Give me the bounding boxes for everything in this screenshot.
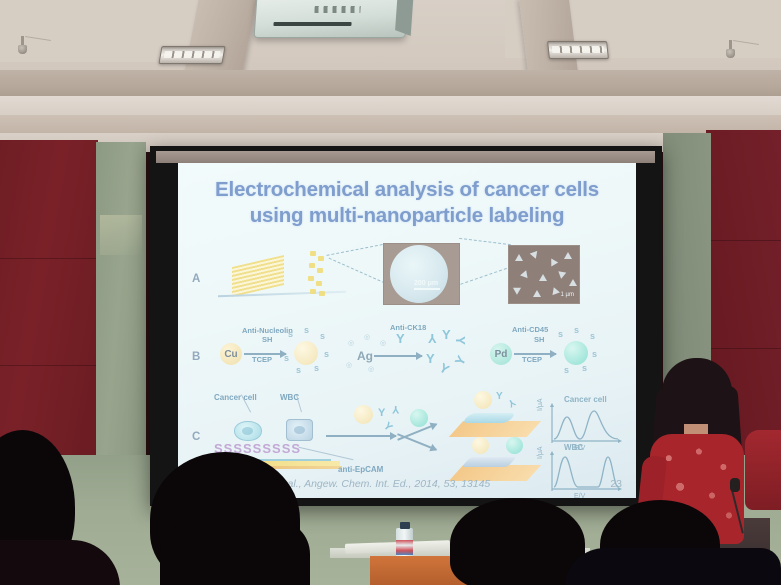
- nanoparticle-pd: Pd: [490, 343, 512, 365]
- functionalized-nanoparticle-2: [564, 341, 588, 365]
- slide-title-line-2: using multi-nanoparticle labeling: [178, 203, 636, 229]
- presenter-sleeve: [745, 430, 781, 510]
- voltammogram-title-wbc: WBC: [564, 443, 583, 452]
- presentation-slide: Electrochemical analysis of cancer cells…: [178, 163, 636, 498]
- cancer-cell-label: Cancer cell: [214, 393, 257, 402]
- cancer-cell-graphic: [234, 421, 262, 441]
- sem-micrograph-nanostructure: 1 µm: [508, 245, 580, 304]
- panel-label-c: C: [192, 431, 200, 443]
- slide-title-line-1: Electrochemical analysis of cancer cells: [178, 177, 636, 203]
- water-bottle-label: [396, 540, 413, 555]
- captured-wbc: [461, 457, 516, 467]
- sem-scale-label: 200 μm: [414, 280, 438, 287]
- sprinkler-head-icon: [726, 40, 735, 58]
- voltammogram-ylabel-wbc: I/μA: [537, 446, 544, 459]
- wall-acoustic-panel-left: [0, 140, 98, 480]
- panel-label-b: B: [192, 351, 200, 363]
- sprinkler-head-icon: [18, 36, 27, 54]
- voltammogram-title-cancer: Cancer cell: [564, 395, 607, 404]
- audience-head: [450, 498, 585, 585]
- electrode-plate-cancer: [449, 421, 541, 437]
- bound-nanoparticle-1: [474, 391, 492, 409]
- ceiling-beam-right: [519, 0, 579, 80]
- wall-glare: [100, 215, 142, 255]
- reagent-tcep-2: TCEP: [522, 355, 542, 364]
- water-bottle-cap: [400, 522, 410, 529]
- voltammogram-cancer-cell: Cancer cell I/μA E/V: [540, 397, 624, 449]
- lecture-hall-photo: Electrochemical analysis of cancer cells…: [0, 0, 781, 585]
- slide-number: 23: [610, 478, 622, 490]
- ceiling-crossbeam-light: [0, 96, 781, 116]
- voltammogram-curve-cancer: [540, 397, 624, 449]
- reagent-sh-1: SH: [262, 335, 272, 344]
- electrode-dots-graphic: [308, 251, 330, 296]
- bound-nanoparticle-2: [472, 437, 489, 454]
- microphone-icon: [730, 478, 740, 492]
- ceiling-crossbeam: [0, 70, 781, 98]
- voltammogram-ylabel-cancer: I/μA: [537, 398, 544, 411]
- audience-shoulders: [160, 520, 310, 585]
- reagent-sh-2: SH: [534, 335, 544, 344]
- antibody-label-nucleolin: Anti-Nucleolin: [242, 326, 293, 335]
- nanoparticle-ag: Ag: [354, 345, 376, 367]
- wbc-graphic: [286, 419, 313, 441]
- sem-micrograph-electrode: 200 μm: [383, 243, 460, 305]
- wall-green-left: [96, 142, 146, 482]
- audience-shoulders-right: [565, 548, 781, 585]
- labeled-nanoparticle-b: [410, 409, 428, 427]
- recessed-light-icon: [158, 46, 225, 64]
- bound-nanoparticle-3: [506, 437, 523, 454]
- electrode-array-graphic: [232, 255, 284, 297]
- voltammogram-xlabel-wbc: E/V: [574, 493, 585, 498]
- slide-title: Electrochemical analysis of cancer cells…: [178, 177, 636, 229]
- anti-epcam-label: anti-EpCAM: [338, 465, 383, 474]
- antibody-label-cd45: Anti-CD45: [512, 325, 548, 334]
- ceiling: [0, 0, 781, 152]
- recessed-light-icon: [547, 41, 609, 59]
- functionalized-nanoparticle-1: [294, 341, 318, 365]
- reagent-tcep-1: TCEP: [252, 355, 272, 364]
- nanoparticle-cu: Cu: [220, 343, 242, 365]
- labeled-nanoparticle-a: [354, 405, 373, 424]
- panel-label-a: A: [192, 273, 200, 285]
- projector-icon: [254, 0, 409, 38]
